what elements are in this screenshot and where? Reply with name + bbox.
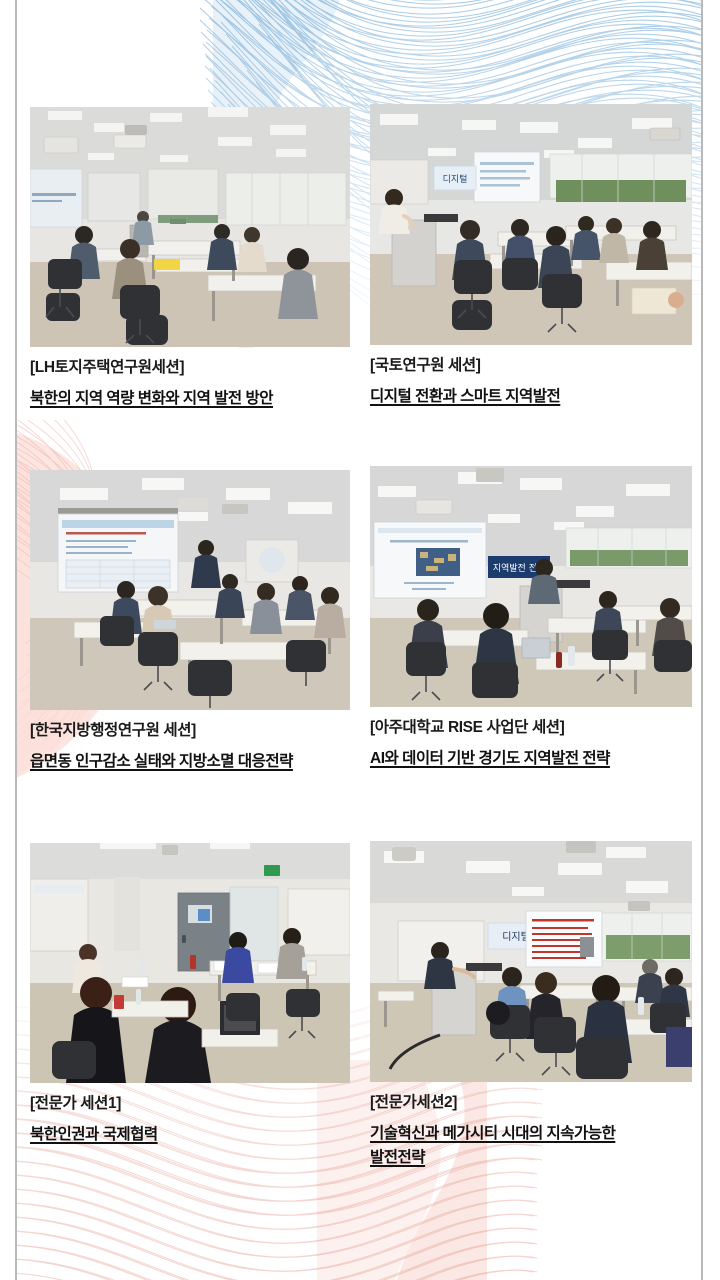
session-card[interactable]: 디지털 (370, 841, 692, 1170)
session-photo: 디지털 (370, 104, 692, 345)
session-card[interactable]: [LH토지주택연구원세션] 북한의 지역 역량 변화와 지역 발전 방안 (30, 107, 350, 411)
session-caption: [아주대학교 RISE 사업단 세션] AI와 데이터 기반 경기도 지역발전 … (370, 718, 692, 771)
session-caption: [한국지방행정연구원 세션] 읍면동 인구감소 실태와 지방소멸 대응전략 (30, 721, 350, 774)
page-border-left (15, 0, 17, 1280)
session-tag: [국토연구원 세션] (370, 356, 692, 377)
session-caption: [전문가 세션1] 북한인권과 국제협력 (30, 1094, 350, 1147)
session-card[interactable]: [한국지방행정연구원 세션] 읍면동 인구감소 실태와 지방소멸 대응전략 (30, 470, 350, 774)
session-caption: [LH토지주택연구원세션] 북한의 지역 역량 변화와 지역 발전 방안 (30, 358, 350, 411)
session-tag: [전문가세션2] (370, 1093, 692, 1114)
session-tag: [아주대학교 RISE 사업단 세션] (370, 718, 692, 739)
session-tag: [LH토지주택연구원세션] (30, 358, 350, 379)
session-tag: [전문가 세션1] (30, 1094, 350, 1115)
session-title: 북한의 지역 역량 변화와 지역 발전 방안 (30, 387, 350, 411)
svg-text:디지털: 디지털 (443, 173, 468, 185)
gallery-page: [LH토지주택연구원세션] 북한의 지역 역량 변화와 지역 발전 방안 (0, 0, 720, 1280)
session-title: 북한인권과 국제협력 (30, 1123, 350, 1147)
page-border-right (701, 0, 703, 1280)
session-photo: 지역발전 전략 (370, 466, 692, 707)
session-photo (30, 843, 350, 1083)
session-card[interactable]: 디지털 (370, 104, 692, 409)
session-title: AI와 데이터 기반 경기도 지역발전 전략 (370, 747, 692, 771)
session-photo (30, 107, 350, 347)
session-photo: 디지털 (370, 841, 692, 1082)
session-card[interactable]: [전문가 세션1] 북한인권과 국제협력 (30, 843, 350, 1147)
session-title: 기술혁신과 메가시티 시대의 지속가능한 발전전략 (370, 1122, 692, 1170)
session-title: 읍면동 인구감소 실태와 지방소멸 대응전략 (30, 750, 350, 774)
session-caption: [국토연구원 세션] 디지털 전환과 스마트 지역발전 (370, 356, 692, 409)
session-tag: [한국지방행정연구원 세션] (30, 721, 350, 742)
session-grid: [LH토지주택연구원세션] 북한의 지역 역량 변화와 지역 발전 방안 (0, 0, 720, 1280)
session-card[interactable]: 지역발전 전략 (370, 466, 692, 771)
session-photo (30, 470, 350, 710)
session-caption: [전문가세션2] 기술혁신과 메가시티 시대의 지속가능한 발전전략 (370, 1093, 692, 1170)
session-title: 디지털 전환과 스마트 지역발전 (370, 385, 692, 409)
